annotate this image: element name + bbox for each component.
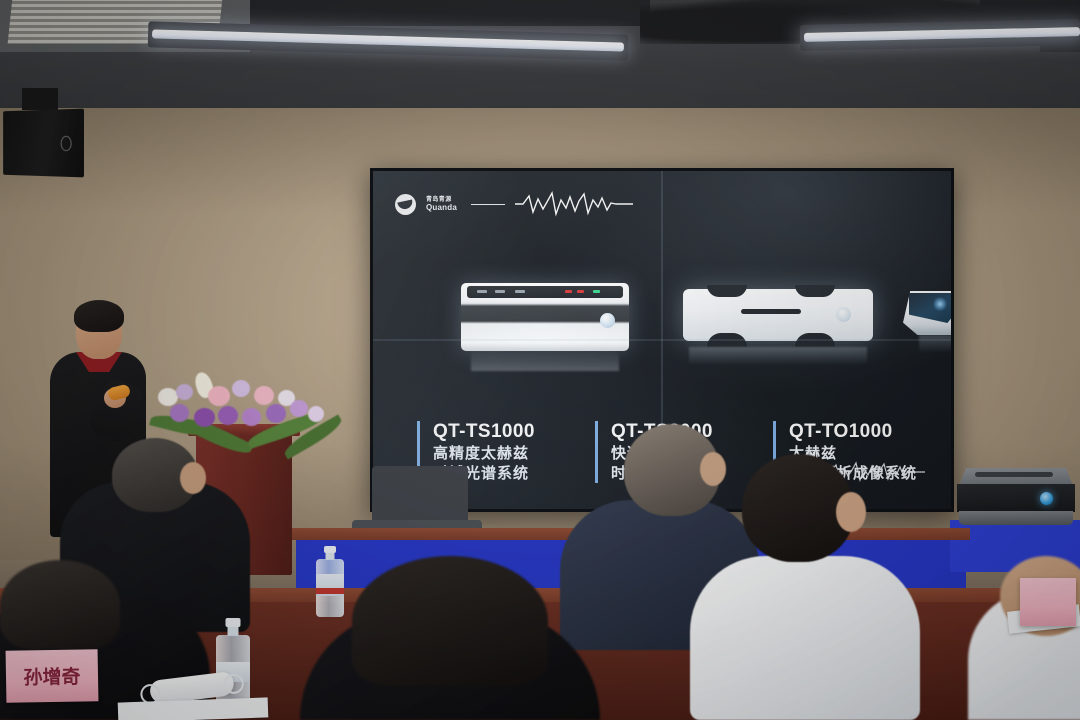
brand-name-cn: 青岛青源	[426, 197, 457, 203]
power-indicator-icon	[1040, 492, 1053, 505]
name-card-far-right	[1020, 578, 1076, 626]
ceiling-recess	[250, 0, 650, 26]
speaker-bracket	[22, 88, 58, 110]
brand-name-en: Quanda	[426, 204, 457, 212]
logo-divider	[471, 204, 505, 205]
product-model-1: QT-TS1000	[433, 421, 535, 443]
product-model-3: QT-TO1000	[789, 421, 917, 443]
device-image-qt-ts2000	[683, 285, 873, 347]
photo-scene: 青岛青源 Quanda	[0, 0, 1080, 720]
product-desc-1-line1: 高精度太赫兹	[433, 443, 535, 463]
wall-speaker	[3, 109, 84, 178]
waveform-top-left-icon	[515, 191, 633, 217]
device-image-qt-to1000	[903, 239, 951, 359]
name-card-front-left: 孙增奇	[6, 649, 99, 703]
terahertz-demo-unit	[957, 468, 1075, 530]
brand-logo: 青岛青源 Quanda	[395, 191, 633, 217]
speaker-logo-icon	[61, 136, 72, 151]
name-card-text: 孙增奇	[6, 662, 98, 691]
water-bottle-back	[316, 546, 344, 618]
screen-bezel-horizontal	[373, 339, 951, 341]
circle-swoosh-logo-icon	[395, 194, 416, 215]
